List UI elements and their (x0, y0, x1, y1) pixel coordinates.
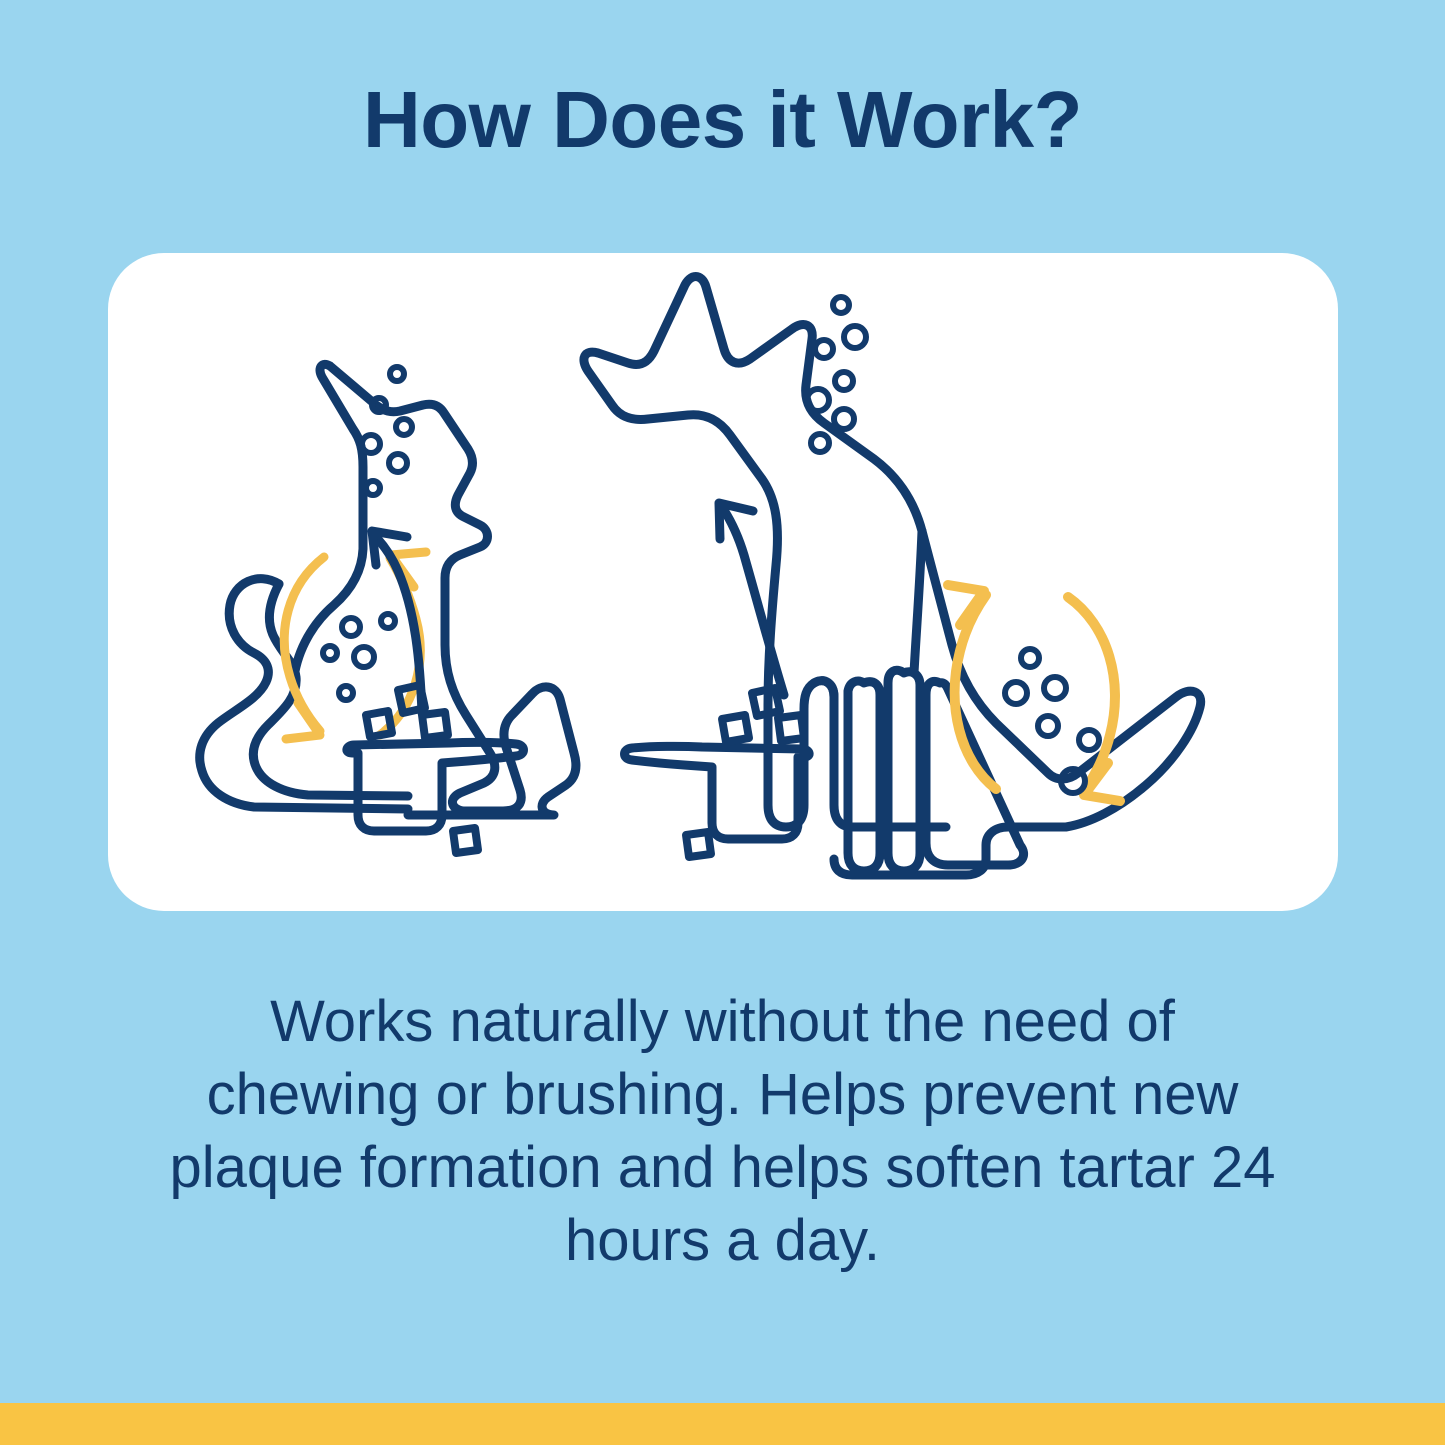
kibble-cubes-icon (686, 688, 804, 857)
caption-text: Works naturally without the need of chew… (160, 985, 1285, 1277)
poster-root: How Does it Work? (0, 0, 1445, 1445)
rising-particles-icon (362, 367, 412, 495)
dog-silhouette-icon (584, 277, 1201, 876)
plaque-dots-icon (323, 614, 395, 700)
bottom-accent-bar (0, 1403, 1445, 1445)
illustration-card (108, 253, 1338, 911)
page-title: How Does it Work? (0, 78, 1445, 162)
illustration-svg (108, 253, 1338, 911)
